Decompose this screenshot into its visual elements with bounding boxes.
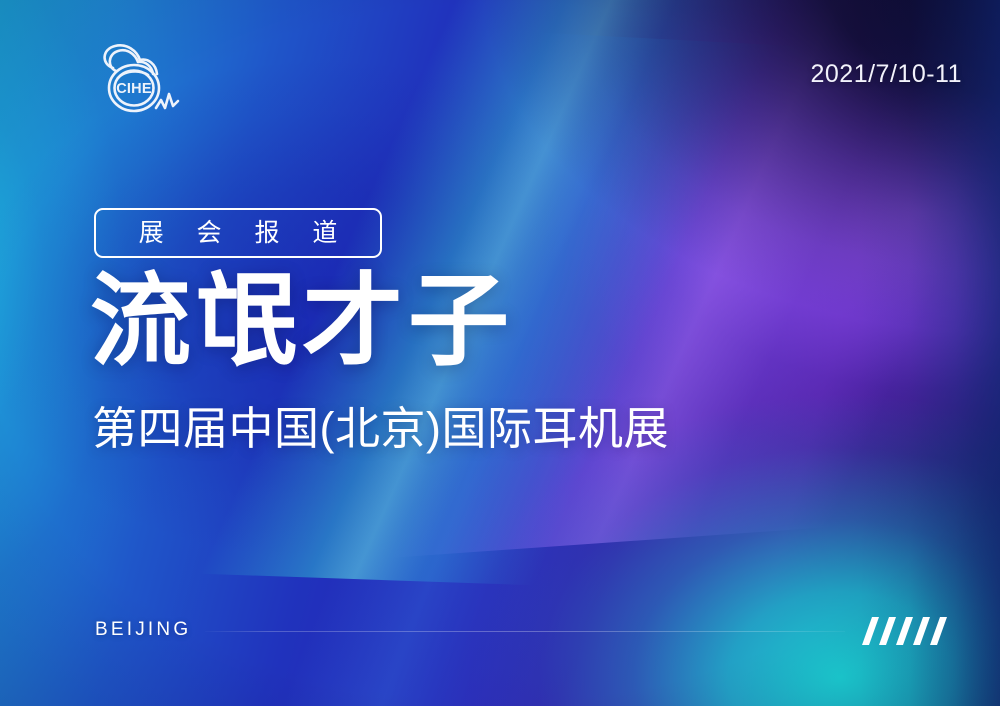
category-badge: 展 会 报 道 bbox=[94, 208, 382, 258]
cihe-logo-text: CIHE bbox=[116, 81, 152, 97]
poster-subtitle: 第四届中国(北京)国际耳机展 bbox=[92, 404, 669, 454]
cihe-logo: CIHE bbox=[93, 38, 185, 118]
footer-city-label: BEIJING bbox=[95, 619, 191, 641]
poster-headline: 流氓才子 bbox=[90, 268, 514, 377]
footer-divider bbox=[205, 631, 845, 632]
event-poster: CIHE 2021/7/10-11 展 会 报 道 流氓才子 第四届中国(北京)… bbox=[0, 0, 1000, 706]
slash-marks-decoration bbox=[852, 613, 948, 649]
event-date: 2021/7/10-11 bbox=[811, 60, 963, 89]
category-badge-label: 展 会 报 道 bbox=[126, 221, 351, 246]
